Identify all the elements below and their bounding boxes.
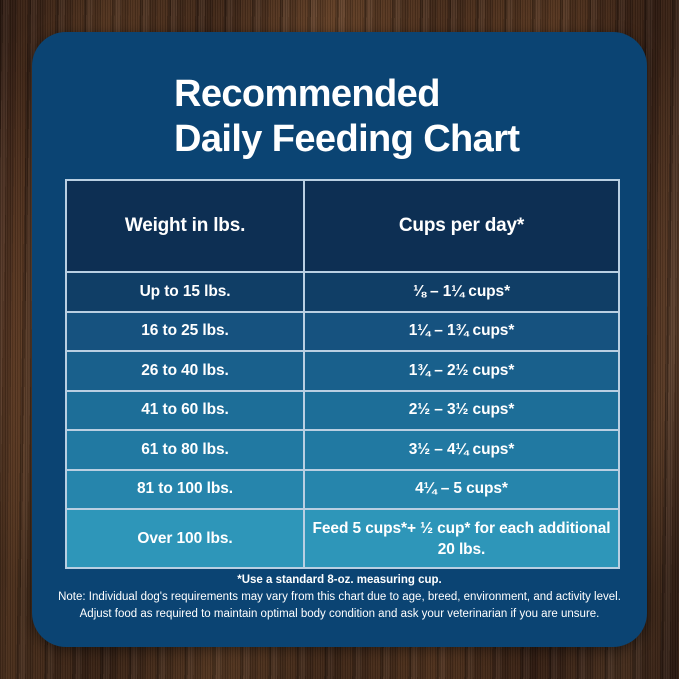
cups-cell: 1¾ – 2½ cups* [304,351,619,391]
table-row: 41 to 60 lbs. 2½ – 3½ cups* [66,391,619,431]
title-line-1: Recommended [174,72,614,117]
table-row: 61 to 80 lbs. 3½ – 4¼ cups* [66,430,619,470]
footnotes: *Use a standard 8-oz. measuring cup. Not… [32,572,647,623]
table-row: 16 to 25 lbs. 1¼ – 1¾ cups* [66,312,619,352]
cups-cell: 4¼ – 5 cups* [304,470,619,510]
table-row: Up to 15 lbs. ⅛ – 1¼ cups* [66,272,619,312]
footnote-note: Note: Individual dog's requirements may … [32,589,647,606]
feeding-chart-card: Recommended Daily Feeding Chart Weight i… [32,32,647,647]
footnote-adjust: Adjust food as required to maintain opti… [32,606,647,623]
page-title: Recommended Daily Feeding Chart [174,72,614,162]
weight-cell: 81 to 100 lbs. [66,470,304,510]
weight-cell: Over 100 lbs. [66,509,304,568]
cups-cell: Feed 5 cups*+ ½ cup* for each additional… [304,509,619,568]
cups-cell: ⅛ – 1¼ cups* [304,272,619,312]
cups-cell: 2½ – 3½ cups* [304,391,619,431]
footnote-measuring-cup: *Use a standard 8-oz. measuring cup. [32,572,647,589]
cups-cell: 1¼ – 1¾ cups* [304,312,619,352]
table-row: Over 100 lbs. Feed 5 cups*+ ½ cup* for e… [66,509,619,568]
weight-cell: 61 to 80 lbs. [66,430,304,470]
table-body: Up to 15 lbs. ⅛ – 1¼ cups* 16 to 25 lbs.… [66,272,619,568]
title-line-2: Daily Feeding Chart [174,117,614,162]
table-row: 26 to 40 lbs. 1¾ – 2½ cups* [66,351,619,391]
weight-cell: 26 to 40 lbs. [66,351,304,391]
table-header-row: Weight in lbs. Cups per day* [66,180,619,272]
cups-cell: 3½ – 4¼ cups* [304,430,619,470]
weight-cell: Up to 15 lbs. [66,272,304,312]
header-weight: Weight in lbs. [66,180,304,272]
weight-cell: 41 to 60 lbs. [66,391,304,431]
table-header: Weight in lbs. Cups per day* [66,180,619,272]
weight-cell: 16 to 25 lbs. [66,312,304,352]
header-cups: Cups per day* [304,180,619,272]
feeding-table: Weight in lbs. Cups per day* Up to 15 lb… [65,179,620,569]
table-row: 81 to 100 lbs. 4¼ – 5 cups* [66,470,619,510]
